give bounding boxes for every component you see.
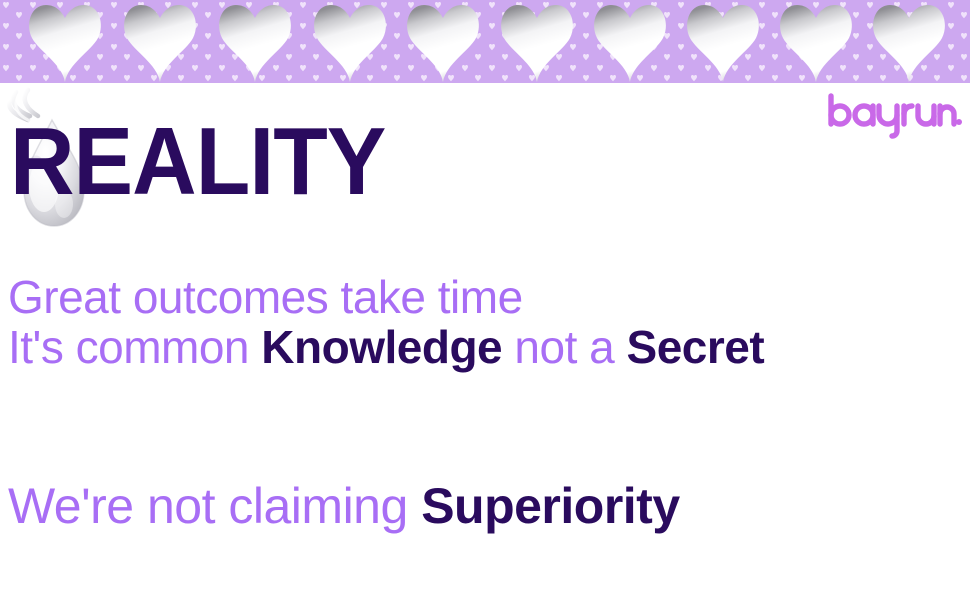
heart-banner [0, 0, 970, 83]
body-line-1: Great outcomes take time [8, 272, 964, 322]
body-line-2-emphasis-secret: Secret [627, 321, 765, 373]
body-line-3-segment-1: We're not claiming [8, 478, 421, 534]
body-line-2-segment-3: not a [502, 321, 626, 373]
body-line-2-segment-1: It's common [8, 321, 261, 373]
body-line-3-emphasis-superiority: Superiority [421, 478, 679, 534]
page-title: REALITY [10, 112, 385, 212]
banner-heart-row [0, 0, 970, 83]
body-line-1-segment-1: Great outcomes take time [8, 271, 523, 323]
body-line-3: We're not claiming Superiority [8, 478, 964, 534]
title-block: REALITY [0, 108, 420, 238]
brand-logo[interactable]: bayrum. [826, 93, 962, 139]
slide-canvas: bayrum. [0, 0, 970, 600]
body-line-2: It's common Knowledge not a Secret [8, 322, 964, 372]
body-copy: Great outcomes take time It's common Kno… [8, 272, 964, 534]
body-line-2-emphasis-knowledge: Knowledge [261, 321, 502, 373]
